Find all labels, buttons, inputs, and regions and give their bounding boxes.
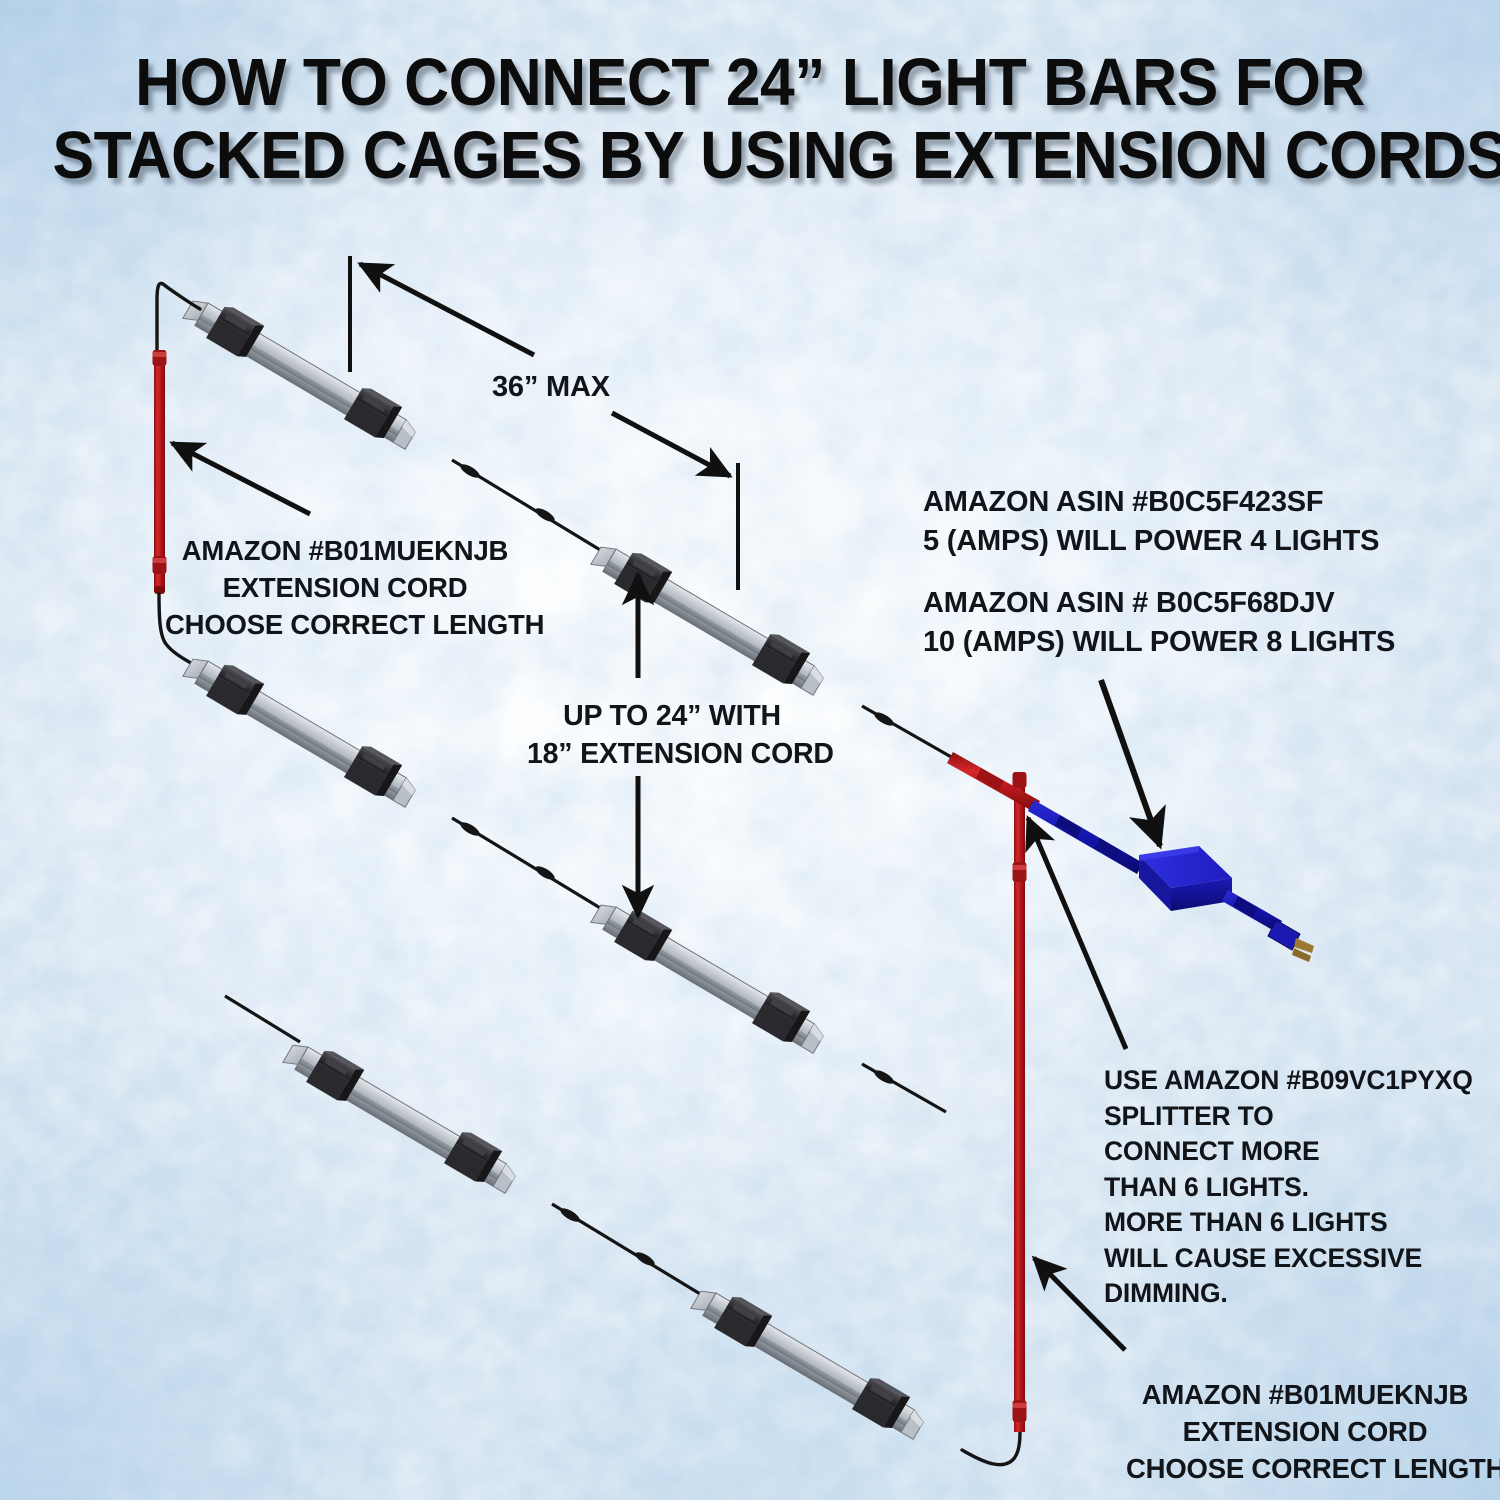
light-bar-1a <box>180 288 423 453</box>
annotation-asin-line-2: 5 (AMPS) WILL POWER 4 LIGHTS <box>923 522 1395 561</box>
power-supply-cable <box>1028 800 1314 962</box>
annotation-left-extension-cord: AMAZON #B01MUEKNJB EXTENSION CORD CHOOSE… <box>165 532 525 643</box>
annotation-power-supplies: AMAZON ASIN #B0C5F423SF 5 (AMPS) WILL PO… <box>923 483 1395 662</box>
annotation-left-line-3: CHOOSE CORRECT LENGTH <box>165 606 525 643</box>
annotation-asin-line-4: 10 (AMPS) WILL POWER 8 LIGHTS <box>923 623 1395 662</box>
annotation-splitter-line-4: THAN 6 LIGHTS. <box>1104 1170 1473 1206</box>
light-bar-1b <box>588 534 831 699</box>
annotation-bottom-extension-cord: AMAZON #B01MUEKNJB EXTENSION CORD CHOOSE… <box>1126 1376 1484 1487</box>
annotation-splitter-line-3: CONNECT MORE <box>1104 1134 1473 1170</box>
infographic-canvas: HOW TO CONNECT 24” LIGHT BARS FOR STACKE… <box>0 0 1500 1500</box>
annotation-upto24-line-1: UP TO 24” WITH <box>527 697 817 735</box>
annotation-bottom-line-2: EXTENSION CORD <box>1126 1413 1484 1450</box>
annotation-36max-line-1: 36” MAX <box>492 368 610 406</box>
light-bar-3a <box>280 1032 523 1197</box>
annotation-splitter-line-6: WILL CAUSE EXCESSIVE <box>1104 1241 1473 1277</box>
tail-cord-row2 <box>862 1064 946 1112</box>
light-bar-2b <box>588 892 831 1057</box>
annotation-max-spacing: 36” MAX <box>492 368 610 406</box>
annotation-splitter: USE AMAZON #B09VC1PYXQ SPLITTER TO CONNE… <box>1104 1063 1473 1312</box>
annotation-splitter-line-1: USE AMAZON #B09VC1PYXQ <box>1104 1063 1473 1099</box>
annotation-upto24-line-2: 18” EXTENSION CORD <box>527 735 817 773</box>
annotation-asin-line-3: AMAZON ASIN # B0C5F68DJV <box>923 584 1395 623</box>
tail-cord-row3 <box>962 1432 1020 1465</box>
power-supply-brick <box>1139 846 1232 911</box>
annotation-bottom-line-1: AMAZON #B01MUEKNJB <box>1126 1376 1484 1413</box>
annotation-splitter-line-7: DIMMING. <box>1104 1276 1473 1312</box>
annotation-splitter-line-5: MORE THAN 6 LIGHTS <box>1104 1205 1473 1241</box>
arrow-36max-right <box>612 413 730 476</box>
light-bar-3b <box>688 1278 931 1443</box>
arrow-power-supply <box>1101 680 1160 846</box>
annotation-bar-spacing: UP TO 24” WITH 18” EXTENSION CORD <box>527 697 817 773</box>
annotation-left-line-2: EXTENSION CORD <box>165 569 525 606</box>
annotation-bottom-line-3: CHOOSE CORRECT LENGTH <box>1126 1450 1484 1487</box>
light-bar-2a <box>180 646 423 811</box>
annotation-asin-spacer <box>923 561 1395 584</box>
head-cord-row3 <box>225 996 300 1042</box>
arrow-left-cord <box>172 443 310 514</box>
annotation-left-line-1: AMAZON #B01MUEKNJB <box>165 532 525 569</box>
extension-cord-right <box>1013 772 1027 1432</box>
annotation-asin-line-1: AMAZON ASIN #B0C5F423SF <box>923 483 1395 522</box>
annotation-splitter-line-2: SPLITTER TO <box>1104 1099 1473 1135</box>
arrow-36max-left <box>360 264 534 355</box>
